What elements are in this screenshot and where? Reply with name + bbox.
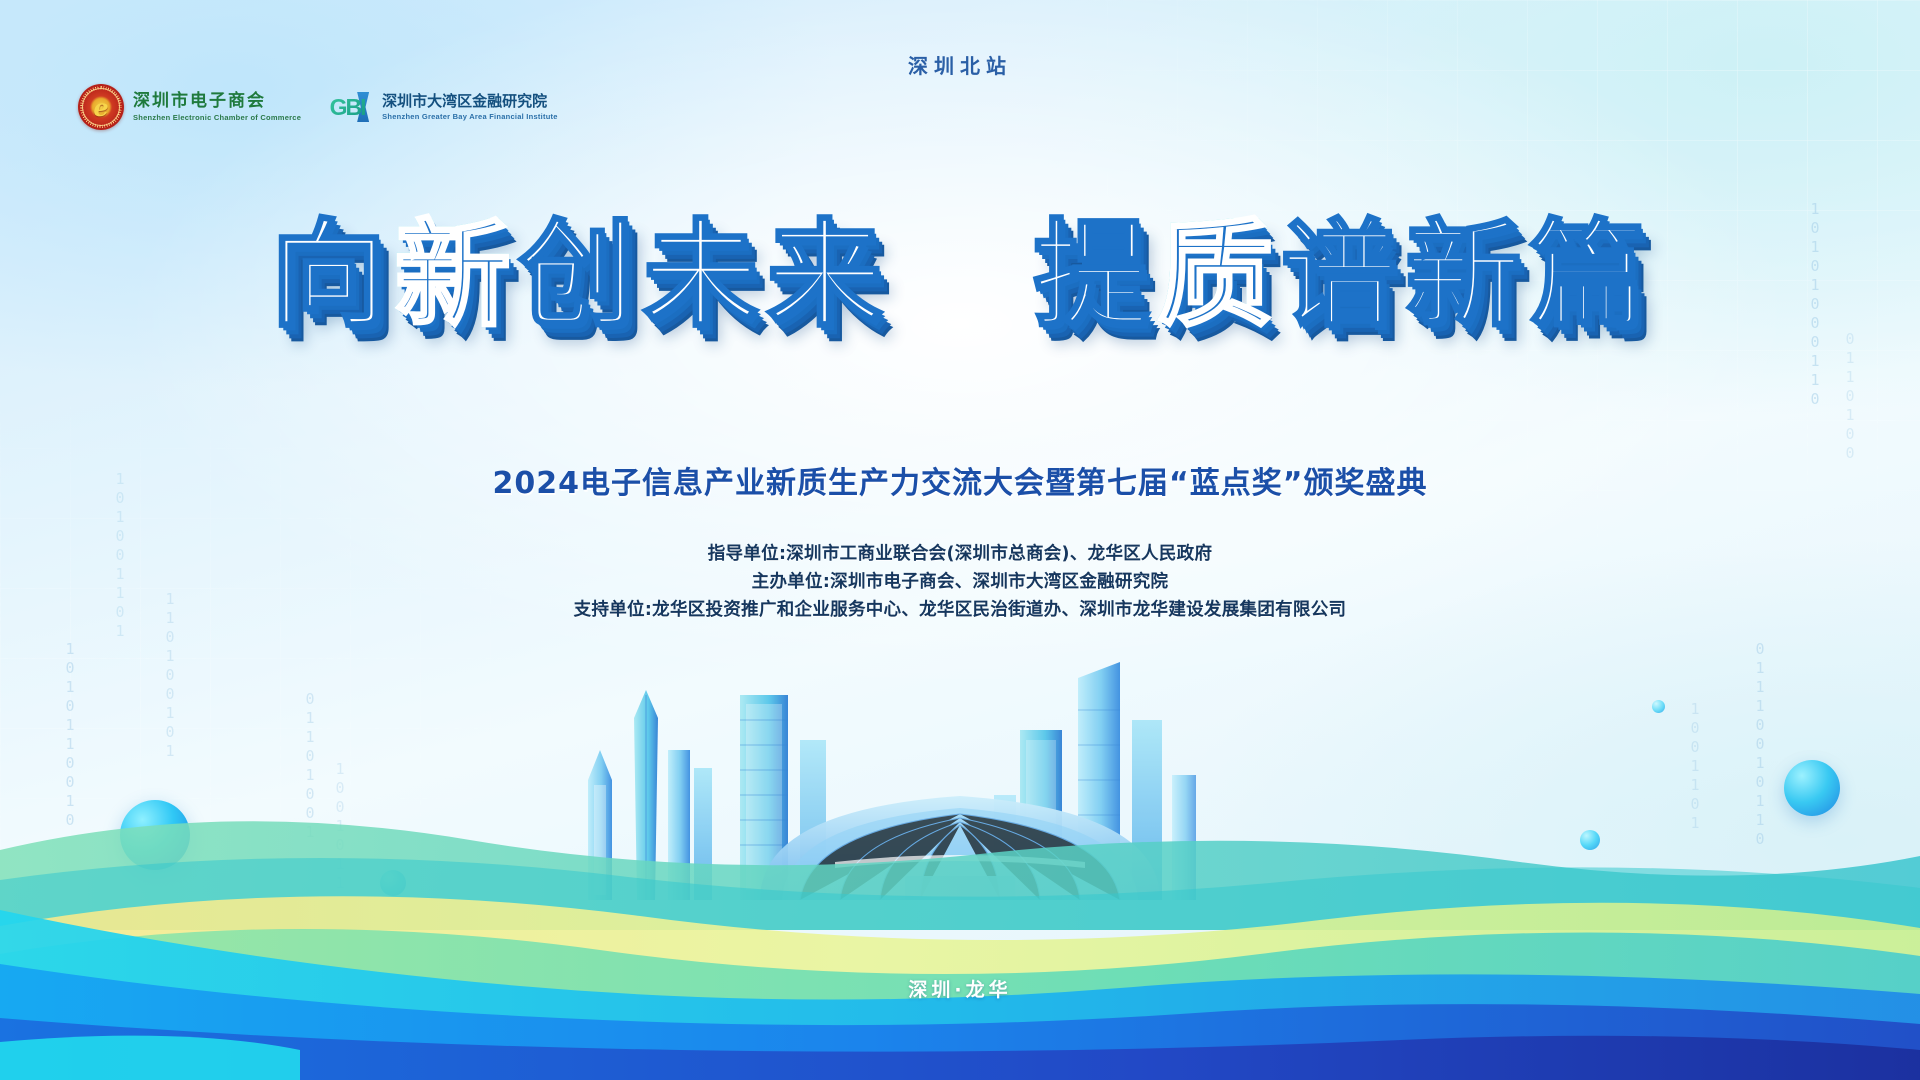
logo-text-block-1: 深圳市电子商会 Shenzhen Electronic Chamber of C… (133, 92, 301, 123)
event-subtitle: 2024电子信息产业新质生产力交流大会暨第七届“蓝点奖”颁奖盛典 (0, 458, 1920, 502)
binary-column-9: 0110100 (1840, 330, 1860, 463)
organizer-line-support: 支持单位:龙华区投资推广和企业服务中心、龙华区民治街道办、深圳市龙华建设发展集团… (0, 596, 1920, 624)
headline-char: 提 (1031, 218, 1155, 334)
headline-char: 未 (641, 218, 765, 334)
gbi-letters: GBI (330, 94, 365, 121)
logo-name-cn-2: 深圳市大湾区金融研究院 (382, 93, 558, 110)
logo-name-en-2: Shenzhen Greater Bay Area Financial Inst… (382, 112, 558, 121)
organizer-block: 指导单位:深圳市工商业联合会(深圳市总商会)、龙华区人民政府 主办单位:深圳市电… (0, 540, 1920, 624)
headline-char: 创 (517, 218, 641, 334)
organizer-line-host: 主办单位:深圳市电子商会、深圳市大湾区金融研究院 (0, 568, 1920, 596)
red-seal-emblem-icon: e (78, 84, 124, 130)
headline-char: 向 (269, 218, 393, 334)
headline-char: 新 (1403, 218, 1527, 334)
headline-phrase-2: 提质谱新篇 (1031, 208, 1651, 343)
headline-char-highlight: 新 (393, 218, 517, 334)
waves-svg (0, 750, 1920, 1080)
logo-gba-financial-institute: GBI 深圳市大湾区金融研究院 Shenzhen Greater Bay Are… (329, 90, 558, 124)
seal-letter: e (78, 84, 124, 130)
headline-char: 篇 (1527, 218, 1651, 334)
headline-char: 来 (765, 218, 889, 334)
organizer-line-guidance: 指导单位:深圳市工商业联合会(深圳市总商会)、龙华区人民政府 (0, 540, 1920, 568)
logo-name-cn-1: 深圳市电子商会 (133, 92, 301, 112)
logo-name-en-1: Shenzhen Electronic Chamber of Commerce (133, 113, 301, 122)
logo-shenzhen-electronic-chamber: e 深圳市电子商会 Shenzhen Electronic Chamber of… (78, 84, 301, 130)
gbi-monogram-icon: GBI (329, 90, 373, 124)
station-label: 深圳北站 (0, 50, 1920, 79)
logo-text-block-2: 深圳市大湾区金融研究院 Shenzhen Greater Bay Area Fi… (382, 93, 558, 121)
sponsor-logo-bar: e 深圳市电子商会 Shenzhen Electronic Chamber of… (78, 84, 558, 130)
headline-char-highlight: 质 (1155, 218, 1279, 334)
headline-phrase-1: 向新创未来 (269, 208, 933, 343)
poster-stage: 1010110010 101001101 110100101 01101001 … (0, 0, 1920, 1080)
page-title: 向新创未来 提质谱新篇 (0, 218, 1920, 334)
footer-location-label: 深圳·龙华 (0, 975, 1920, 1002)
wave-decoration (0, 750, 1920, 1080)
headline-char: 谱 (1279, 218, 1403, 334)
